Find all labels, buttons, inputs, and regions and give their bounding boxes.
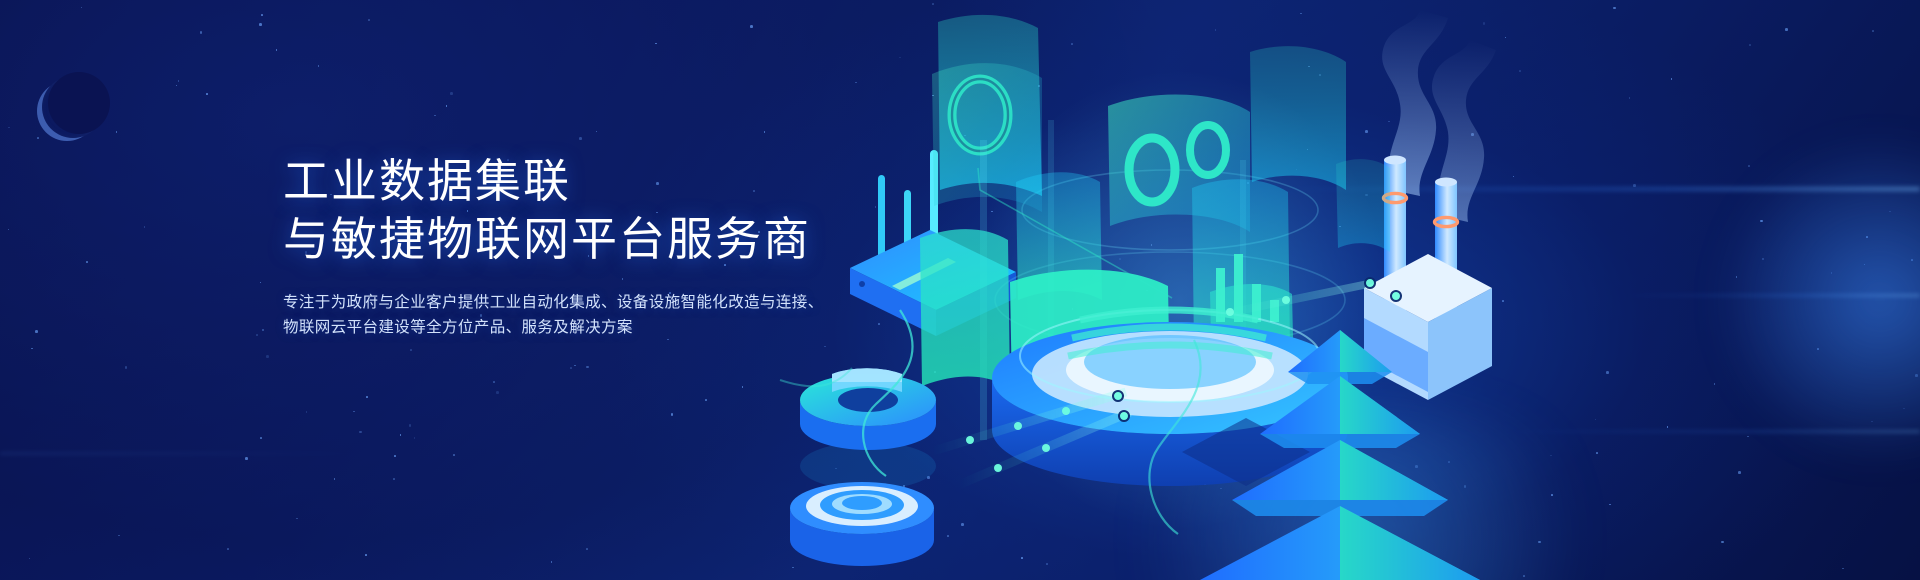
star-dot [579, 137, 582, 140]
star-dot [306, 411, 308, 413]
isometric-illustration [780, 0, 1920, 580]
star-dot [574, 365, 576, 367]
star-dot [176, 85, 178, 87]
star-dot [81, 7, 83, 9]
star-dot [400, 434, 402, 436]
star-dot [705, 399, 707, 401]
star-dot [368, 19, 370, 21]
crescent-moon-icon [42, 76, 104, 138]
star-dot [260, 282, 262, 284]
star-dot [261, 14, 263, 16]
star-dot [200, 31, 203, 34]
star-dot [262, 329, 265, 332]
star-dot [35, 330, 38, 333]
star-dot [365, 554, 367, 556]
star-dot [125, 366, 128, 369]
star-dot [276, 49, 278, 51]
star-dot [446, 105, 448, 107]
tower-panel-back-right [1250, 46, 1346, 190]
star-dot [453, 454, 455, 456]
tower-panel-edge-right [1336, 159, 1390, 252]
star-dot [256, 334, 258, 336]
star-dot [551, 561, 553, 563]
hero-banner: 工业数据集联 与敏捷物联网平台服务商 专注于为政府与企业客户提供工业自动化集成、… [0, 0, 1920, 580]
star-dot [586, 366, 589, 369]
star-dot [434, 115, 436, 117]
star-dot [570, 367, 572, 369]
star-dot [586, 548, 588, 550]
star-dot [671, 413, 674, 416]
circular-pad [790, 482, 934, 566]
star-dot [393, 478, 395, 480]
star-dot [655, 43, 657, 45]
star-dot [8, 229, 10, 231]
star-dot [116, 131, 118, 133]
star-dot [178, 80, 180, 82]
star-dot [596, 131, 598, 133]
light-streak-horizontal [0, 452, 380, 455]
star-dot [496, 391, 499, 394]
star-dot [8, 127, 10, 129]
star-dot [359, 431, 362, 434]
star-dot [394, 455, 396, 457]
star-dot [334, 478, 336, 480]
star-dot [266, 355, 269, 358]
star-dot [764, 131, 766, 133]
star-dot [450, 92, 453, 95]
star-dot [414, 437, 416, 439]
star-dot [37, 137, 39, 139]
star-dot [86, 261, 88, 263]
tower-panel-front-left [920, 229, 1010, 388]
star-dot [206, 93, 208, 95]
star-dot [366, 396, 368, 398]
star-dot [245, 457, 248, 460]
star-dot [31, 348, 33, 350]
star-dot [227, 548, 229, 550]
star-dot [29, 558, 31, 560]
star-dot [493, 381, 495, 383]
star-dot [318, 65, 320, 67]
star-dot [144, 226, 146, 228]
star-dot [259, 23, 262, 26]
star-dot [742, 386, 744, 388]
star-dot [260, 437, 262, 439]
star-dot [118, 535, 120, 537]
star-dot [750, 25, 753, 28]
star-dot [409, 424, 412, 427]
star-dot [410, 349, 412, 351]
star-dot [296, 518, 298, 520]
star-dot [353, 411, 355, 413]
